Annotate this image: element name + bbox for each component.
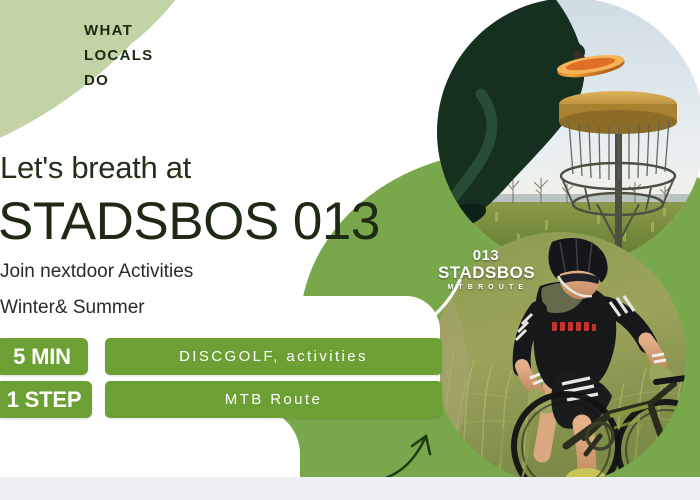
promo-poster: 013 STADSBOS M T B R O U T E WHAT LOCALS… [0, 0, 700, 500]
bottom-strip [0, 477, 700, 500]
mountain-bike-scene [434, 232, 686, 484]
kicker-line-1: WHAT [84, 18, 153, 43]
disc-golf-photo [437, 0, 700, 266]
lead-text: Let's breath at [0, 150, 191, 186]
mountain-bike-photo [434, 232, 686, 484]
kicker-text: WHAT LOCALS DO [84, 18, 153, 93]
page-title: STADSBOS 013 [0, 191, 380, 252]
subtitle-activities: Join nextdoor Activities [0, 261, 193, 283]
pill-mtb-route[interactable]: MTB Route [105, 381, 442, 418]
disc-golf-scene [437, 0, 700, 266]
kicker-line-3: DO [84, 68, 153, 93]
white-notch-shape [0, 408, 300, 480]
badge-duration-5min[interactable]: 5 MIN [0, 338, 88, 375]
badge-distance-1step[interactable]: 1 STEP [0, 381, 92, 418]
subtitle-seasons: Winter& Summer [0, 297, 145, 319]
kicker-line-2: LOCALS [84, 43, 153, 68]
pill-discgolf-activities[interactable]: DISCGOLF, activities [105, 338, 442, 375]
